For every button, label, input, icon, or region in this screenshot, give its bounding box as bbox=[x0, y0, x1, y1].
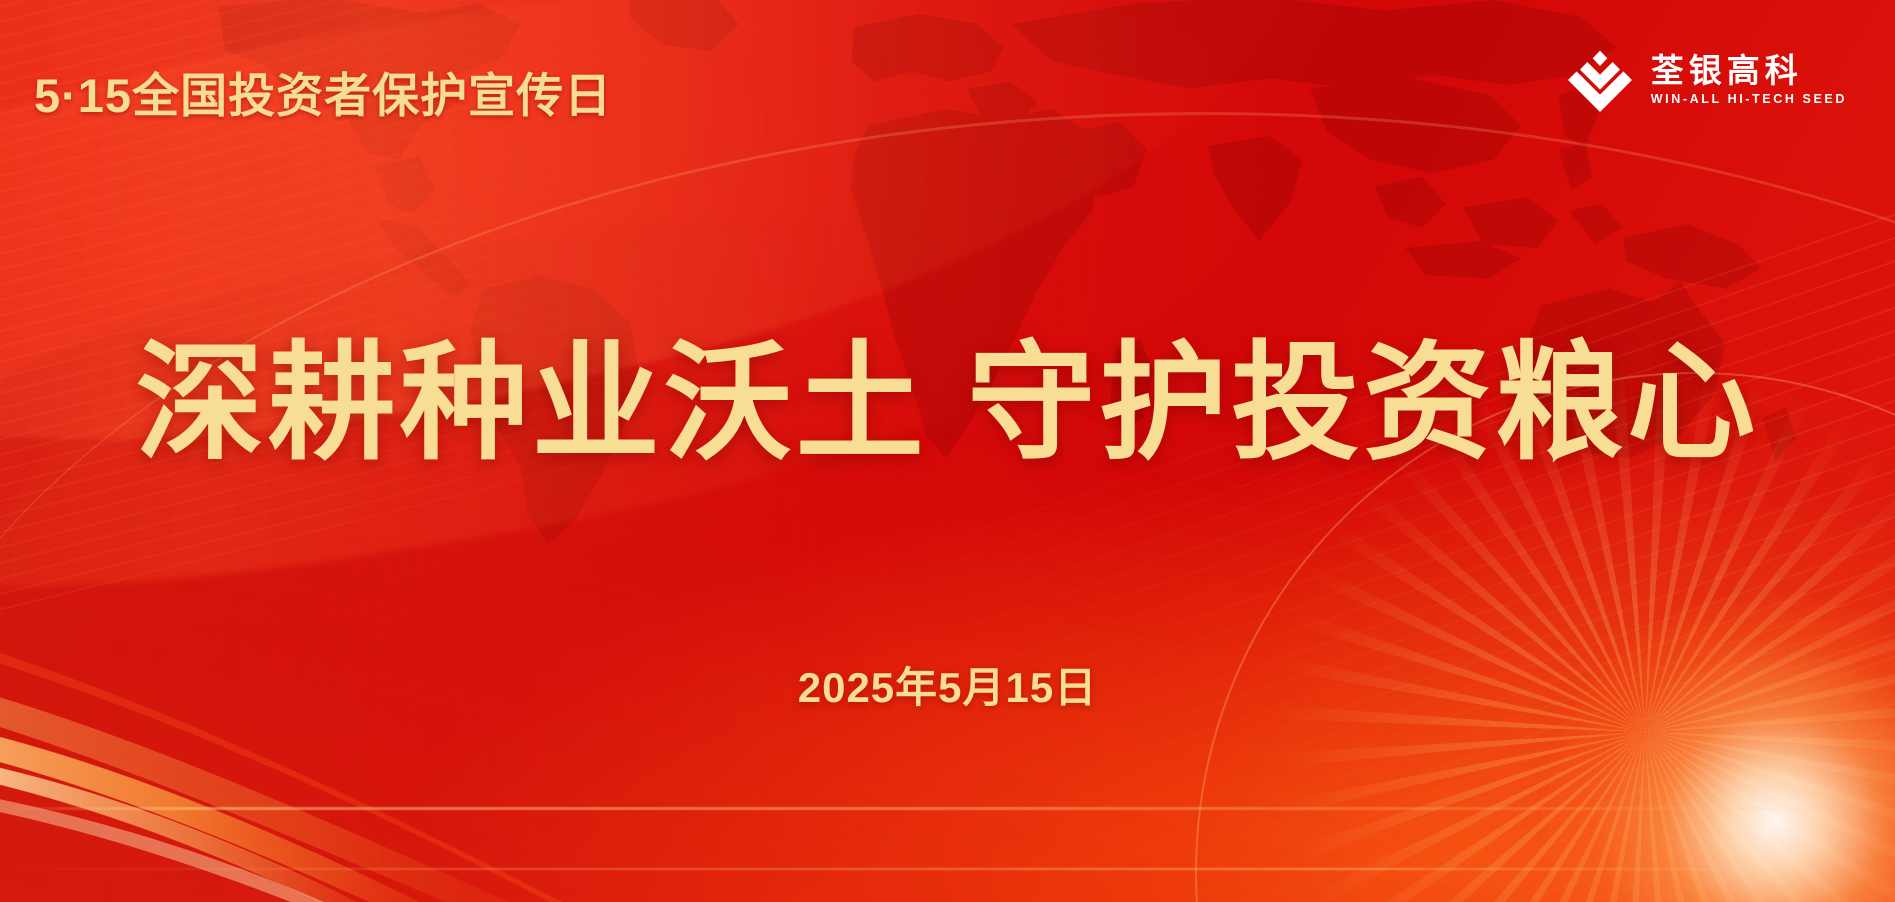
brand-logo: 荃银高科 WIN-ALL HI-TECH SEED bbox=[1566, 48, 1847, 112]
brand-name-en: WIN-ALL HI-TECH SEED bbox=[1651, 92, 1847, 106]
banner-content: 5·15全国投资者保护宣传日 深耕种业沃土 守护投资粮心 2025年5月15日 bbox=[0, 0, 1895, 902]
brand-name-cn: 荃银高科 bbox=[1651, 54, 1803, 88]
event-date: 2025年5月15日 bbox=[0, 654, 1895, 715]
event-day-title: 5·15全国投资者保护宣传日 bbox=[34, 57, 612, 126]
main-slogan: 深耕种业沃土 守护投资粮心 bbox=[0, 340, 1895, 468]
brand-wordmark: 荃银高科 WIN-ALL HI-TECH SEED bbox=[1651, 54, 1847, 105]
investor-protection-day-banner: 5·15全国投资者保护宣传日 深耕种业沃土 守护投资粮心 2025年5月15日 bbox=[0, 0, 1895, 902]
chevron-seed-logo-icon bbox=[1566, 48, 1634, 112]
